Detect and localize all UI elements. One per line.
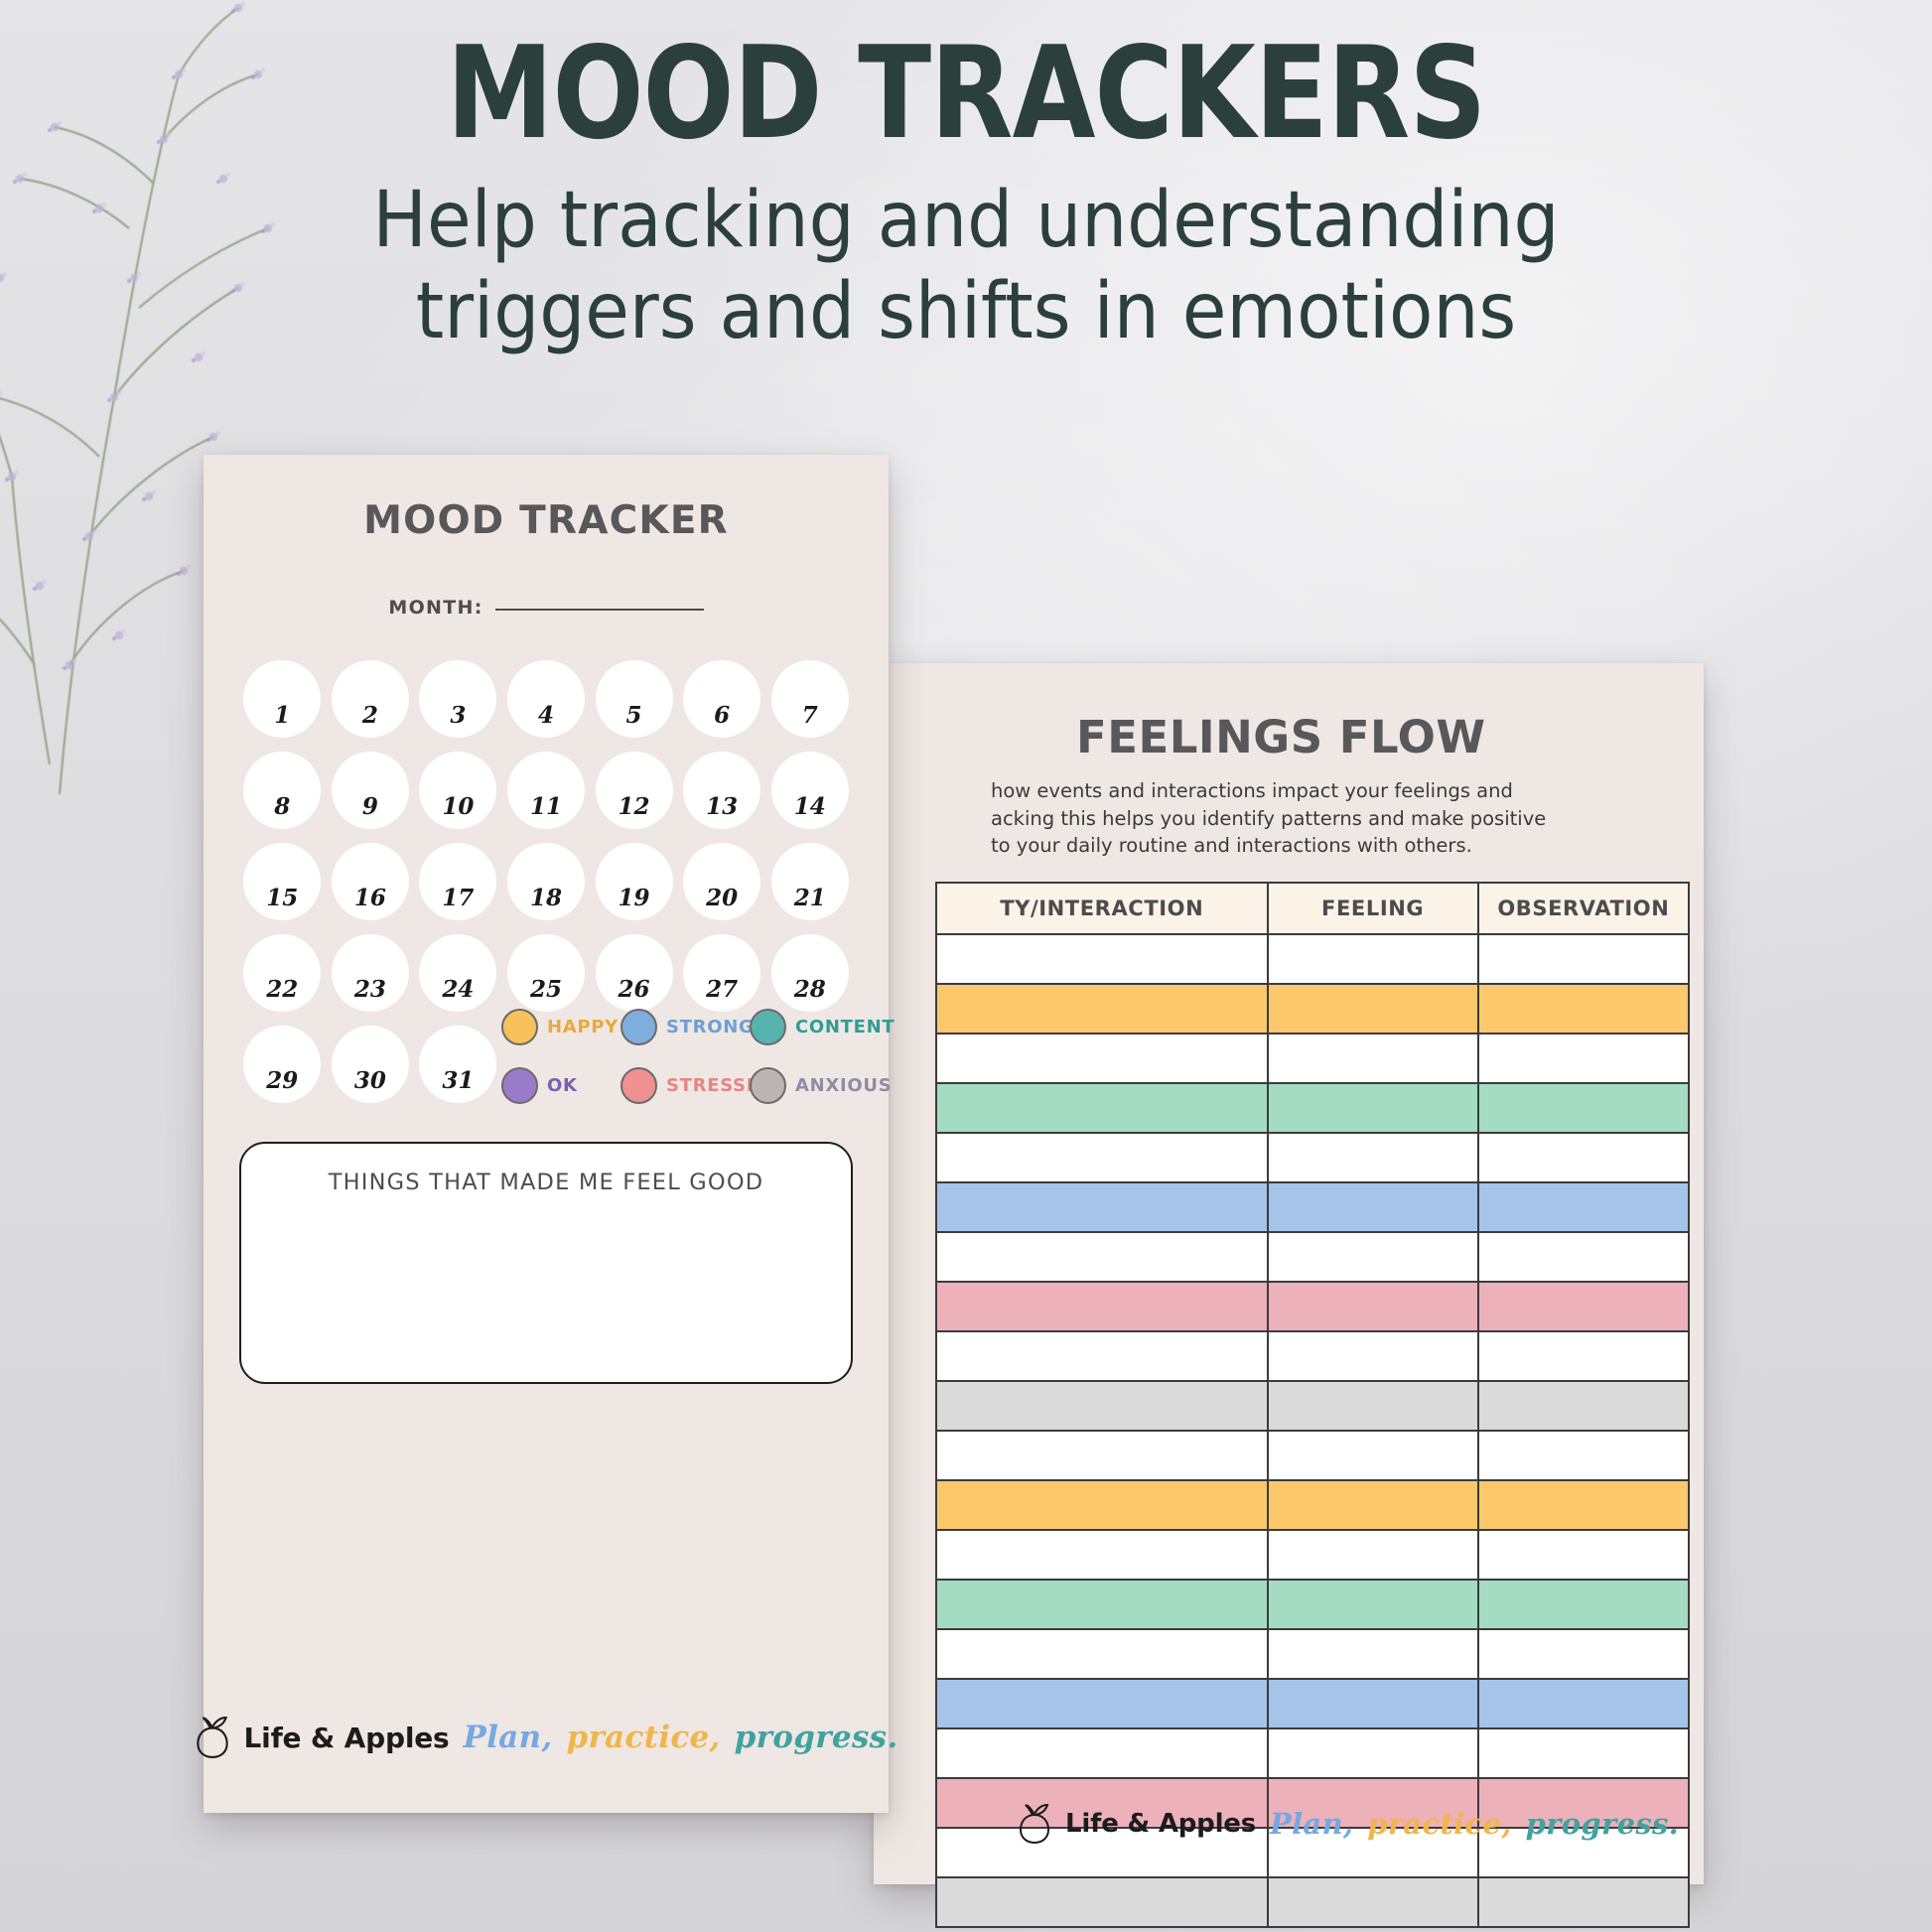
table-cell[interactable] bbox=[1478, 1133, 1689, 1182]
legend-item-content[interactable]: CONTENT bbox=[750, 1009, 869, 1045]
column-header-observation: OBSERVATION bbox=[1478, 883, 1689, 934]
day-circle[interactable]: 21 bbox=[771, 843, 849, 920]
table-cell[interactable] bbox=[936, 1232, 1268, 1282]
table-cell[interactable] bbox=[1268, 1728, 1478, 1778]
table-cell[interactable] bbox=[1268, 1331, 1478, 1381]
table-row[interactable] bbox=[936, 1034, 1689, 1083]
table-cell[interactable] bbox=[1478, 1530, 1689, 1580]
feelings-flow-card: FEELINGS FLOW how events and interaction… bbox=[874, 663, 1704, 1884]
table-row[interactable] bbox=[936, 1232, 1689, 1282]
brand-lockup: Life & Apples Plan, practice, progress. bbox=[1018, 1803, 1679, 1845]
table-row[interactable] bbox=[936, 1728, 1689, 1778]
table-row[interactable] bbox=[936, 1431, 1689, 1480]
table-row[interactable] bbox=[936, 1679, 1689, 1728]
brand-tag-progress: progress. bbox=[1526, 1807, 1679, 1841]
table-cell[interactable] bbox=[936, 1034, 1268, 1083]
legend-color-dot bbox=[621, 1067, 657, 1104]
day-number: 14 bbox=[794, 793, 826, 820]
day-circle[interactable]: 31 bbox=[419, 1026, 496, 1103]
feelings-flow-description-line-3: to your daily routine and interactions w… bbox=[991, 832, 1606, 860]
legend-label: CONTENT bbox=[795, 1017, 895, 1037]
feelings-flow-title: FEELINGS FLOW bbox=[1076, 711, 1648, 763]
day-circle[interactable]: 3 bbox=[419, 660, 496, 738]
day-circle[interactable]: 19 bbox=[596, 843, 673, 920]
table-cell[interactable] bbox=[1268, 1381, 1478, 1431]
table-cell[interactable] bbox=[936, 1083, 1268, 1133]
day-number: 8 bbox=[274, 793, 290, 820]
legend-item-anxious[interactable]: ANXIOUS bbox=[750, 1067, 869, 1104]
day-circle[interactable]: 5 bbox=[596, 660, 673, 738]
day-circle[interactable]: 2 bbox=[332, 660, 409, 738]
table-cell[interactable] bbox=[936, 1431, 1268, 1480]
table-row[interactable] bbox=[936, 934, 1689, 984]
table-row[interactable] bbox=[936, 1083, 1689, 1133]
day-circle[interactable]: 6 bbox=[683, 660, 760, 738]
table-cell[interactable] bbox=[936, 1728, 1268, 1778]
table-cell[interactable] bbox=[1268, 1282, 1478, 1331]
day-circle[interactable]: 7 bbox=[771, 660, 849, 738]
table-row[interactable] bbox=[936, 1182, 1689, 1232]
notes-box[interactable]: THINGS THAT MADE ME FEEL GOOD bbox=[239, 1142, 853, 1384]
day-circle[interactable]: 8 bbox=[243, 752, 321, 829]
page-subtitle-line-2: triggers and shifts in emotions bbox=[68, 266, 1864, 357]
day-circle[interactable]: 14 bbox=[771, 752, 849, 829]
table-cell[interactable] bbox=[1268, 1679, 1478, 1728]
table-cell[interactable] bbox=[1478, 1034, 1689, 1083]
day-number: 31 bbox=[442, 1067, 474, 1094]
day-circle[interactable]: 29 bbox=[243, 1026, 321, 1103]
table-cell[interactable] bbox=[1478, 984, 1689, 1034]
table-cell[interactable] bbox=[936, 1530, 1268, 1580]
legend-color-dot bbox=[501, 1009, 538, 1045]
table-cell[interactable] bbox=[936, 1480, 1268, 1530]
day-number: 26 bbox=[619, 976, 650, 1003]
day-number: 5 bbox=[626, 702, 642, 729]
feelings-flow-table-body[interactable] bbox=[936, 934, 1689, 1927]
day-number: 12 bbox=[619, 793, 650, 820]
table-cell[interactable] bbox=[1268, 1480, 1478, 1530]
mood-tracker-card: MOOD TRACKER MONTH: 12345678910111213141… bbox=[204, 455, 889, 1813]
brand-name: Life & Apples bbox=[1065, 1809, 1256, 1839]
table-cell[interactable] bbox=[936, 1629, 1268, 1679]
day-number: 3 bbox=[450, 702, 466, 729]
feelings-flow-description: how events and interactions impact your … bbox=[991, 777, 1606, 860]
table-row[interactable] bbox=[936, 1133, 1689, 1182]
day-circle[interactable]: 26 bbox=[596, 934, 673, 1012]
day-number: 16 bbox=[354, 885, 386, 911]
day-circle[interactable]: 10 bbox=[419, 752, 496, 829]
table-cell[interactable] bbox=[1268, 1232, 1478, 1282]
day-number: 15 bbox=[266, 885, 298, 911]
day-number: 9 bbox=[362, 793, 378, 820]
day-number: 19 bbox=[619, 885, 650, 911]
table-cell[interactable] bbox=[1478, 1083, 1689, 1133]
day-circle[interactable]: 28 bbox=[771, 934, 849, 1012]
table-row[interactable] bbox=[936, 1580, 1689, 1629]
legend-color-dot bbox=[621, 1009, 657, 1045]
page-subtitle: Help tracking and understanding triggers… bbox=[68, 175, 1864, 357]
day-number: 20 bbox=[706, 885, 738, 911]
day-number: 13 bbox=[706, 793, 738, 820]
day-number: 11 bbox=[530, 793, 562, 820]
table-cell[interactable] bbox=[1478, 1182, 1689, 1232]
table-row[interactable] bbox=[936, 1331, 1689, 1381]
table-cell[interactable] bbox=[1268, 1083, 1478, 1133]
table-cell[interactable] bbox=[1268, 1629, 1478, 1679]
brand-tag-plan: Plan, bbox=[1270, 1807, 1353, 1841]
table-cell[interactable] bbox=[1478, 1232, 1689, 1282]
legend-color-dot bbox=[750, 1009, 786, 1045]
table-row[interactable] bbox=[936, 1877, 1689, 1927]
day-circle[interactable]: 24 bbox=[419, 934, 496, 1012]
legend-label: HAPPY bbox=[547, 1017, 619, 1037]
day-number: 29 bbox=[266, 1067, 298, 1094]
legend-label: ANXIOUS bbox=[795, 1075, 892, 1096]
page-subtitle-line-1: Help tracking and understanding bbox=[68, 175, 1864, 266]
day-circle[interactable]: 1 bbox=[243, 660, 321, 738]
table-cell[interactable] bbox=[1478, 1480, 1689, 1530]
day-number: 28 bbox=[794, 976, 826, 1003]
table-row[interactable] bbox=[936, 1530, 1689, 1580]
page-title: MOOD TRACKERS bbox=[58, 28, 1873, 161]
table-cell[interactable] bbox=[1478, 1728, 1689, 1778]
legend-item-stressed[interactable]: STRESSED bbox=[621, 1067, 750, 1104]
table-cell[interactable] bbox=[1478, 1431, 1689, 1480]
day-circle[interactable]: 12 bbox=[596, 752, 673, 829]
table-cell[interactable] bbox=[1268, 1580, 1478, 1629]
feelings-flow-footer-brand: Life & Apples Plan, practice, progress. bbox=[874, 1803, 1704, 1845]
day-number: 7 bbox=[802, 702, 818, 729]
table-cell[interactable] bbox=[1268, 1133, 1478, 1182]
table-cell[interactable] bbox=[936, 934, 1268, 984]
brand-tag-practice: practice, bbox=[1367, 1807, 1511, 1841]
table-cell[interactable] bbox=[936, 1182, 1268, 1232]
legend-color-dot bbox=[501, 1067, 538, 1104]
day-number: 21 bbox=[794, 885, 826, 911]
day-number: 18 bbox=[530, 885, 562, 911]
table-cell[interactable] bbox=[936, 1331, 1268, 1381]
mood-tracker-title: MOOD TRACKER bbox=[204, 498, 889, 543]
legend-item-ok[interactable]: OK bbox=[501, 1067, 621, 1104]
month-label: MONTH: bbox=[388, 597, 483, 619]
brand-tag-practice: practice, bbox=[566, 1720, 720, 1755]
feelings-flow-content: FEELINGS FLOW how events and interaction… bbox=[874, 663, 1704, 1884]
notes-box-title: THINGS THAT MADE ME FEEL GOOD bbox=[241, 1170, 851, 1195]
day-number: 22 bbox=[266, 976, 298, 1003]
brand-tag-progress: progress. bbox=[735, 1720, 898, 1755]
table-cell[interactable] bbox=[1268, 1877, 1478, 1927]
day-circle[interactable]: 15 bbox=[243, 843, 321, 920]
table-cell[interactable] bbox=[1478, 1282, 1689, 1331]
table-cell[interactable] bbox=[1268, 1034, 1478, 1083]
mood-legend: HAPPYSTRONGCONTENTOKSTRESSEDANXIOUS bbox=[501, 1009, 869, 1104]
page-header: MOOD TRACKERS Help tracking and understa… bbox=[0, 28, 1932, 357]
feelings-flow-description-line-2: acking this helps you identify patterns … bbox=[991, 805, 1606, 833]
day-number: 4 bbox=[538, 702, 554, 729]
feelings-flow-table[interactable]: TY/INTERACTION FEELING OBSERVATION bbox=[935, 882, 1690, 1928]
table-cell[interactable] bbox=[936, 984, 1268, 1034]
table-cell[interactable] bbox=[1268, 984, 1478, 1034]
month-field-row: MONTH: bbox=[204, 597, 889, 619]
day-circle[interactable]: 16 bbox=[332, 843, 409, 920]
day-circle[interactable]: 18 bbox=[507, 843, 585, 920]
table-cell[interactable] bbox=[936, 1580, 1268, 1629]
table-cell[interactable] bbox=[936, 1133, 1268, 1182]
table-cell[interactable] bbox=[1478, 1381, 1689, 1431]
table-cell[interactable] bbox=[936, 1282, 1268, 1331]
day-number: 6 bbox=[714, 702, 730, 729]
legend-item-happy[interactable]: HAPPY bbox=[501, 1009, 621, 1045]
day-circle[interactable]: 4 bbox=[507, 660, 585, 738]
table-row[interactable] bbox=[936, 1480, 1689, 1530]
table-row[interactable] bbox=[936, 984, 1689, 1034]
column-header-activity-interaction: TY/INTERACTION bbox=[936, 883, 1268, 934]
legend-label: OK bbox=[547, 1075, 578, 1096]
day-circle[interactable]: 27 bbox=[683, 934, 760, 1012]
month-input-line[interactable] bbox=[495, 609, 704, 611]
brand-lockup: Life & Apples Plan, practice, progress. bbox=[195, 1716, 898, 1759]
feelings-flow-description-line-1: how events and interactions impact your … bbox=[991, 777, 1606, 805]
table-header-row: TY/INTERACTION FEELING OBSERVATION bbox=[936, 883, 1689, 934]
table-cell[interactable] bbox=[1268, 1431, 1478, 1480]
day-number: 1 bbox=[274, 702, 290, 729]
day-number: 10 bbox=[442, 793, 474, 820]
table-cell[interactable] bbox=[1268, 934, 1478, 984]
table-cell[interactable] bbox=[936, 1381, 1268, 1431]
table-row[interactable] bbox=[936, 1282, 1689, 1331]
apple-logo-icon bbox=[1018, 1803, 1051, 1845]
mood-tracker-footer-brand: Life & Apples Plan, practice, progress. bbox=[204, 1716, 889, 1759]
legend-label: STRONG bbox=[666, 1017, 754, 1037]
table-cell[interactable] bbox=[1478, 1877, 1689, 1927]
day-number: 30 bbox=[354, 1067, 386, 1094]
table-cell[interactable] bbox=[1268, 1182, 1478, 1232]
day-circle[interactable]: 17 bbox=[419, 843, 496, 920]
day-number: 23 bbox=[354, 976, 386, 1003]
apple-logo-icon bbox=[195, 1716, 230, 1759]
day-circle[interactable]: 23 bbox=[332, 934, 409, 1012]
day-circle[interactable]: 9 bbox=[332, 752, 409, 829]
table-cell[interactable] bbox=[936, 1877, 1268, 1927]
day-number: 17 bbox=[442, 885, 474, 911]
table-row[interactable] bbox=[936, 1629, 1689, 1679]
table-cell[interactable] bbox=[1478, 1580, 1689, 1629]
table-cell[interactable] bbox=[1478, 934, 1689, 984]
day-number: 24 bbox=[442, 976, 474, 1003]
legend-item-strong[interactable]: STRONG bbox=[621, 1009, 750, 1045]
day-circle[interactable]: 22 bbox=[243, 934, 321, 1012]
day-circle[interactable]: 13 bbox=[683, 752, 760, 829]
day-number: 25 bbox=[530, 976, 562, 1003]
day-number: 2 bbox=[362, 702, 378, 729]
table-cell[interactable] bbox=[1268, 1530, 1478, 1580]
table-cell[interactable] bbox=[936, 1679, 1268, 1728]
table-cell[interactable] bbox=[1478, 1679, 1689, 1728]
table-cell[interactable] bbox=[1478, 1331, 1689, 1381]
day-circle[interactable]: 30 bbox=[332, 1026, 409, 1103]
brand-name: Life & Apples bbox=[244, 1722, 450, 1754]
table-row[interactable] bbox=[936, 1381, 1689, 1431]
column-header-feeling: FEELING bbox=[1268, 883, 1478, 934]
day-circle[interactable]: 20 bbox=[683, 843, 760, 920]
table-cell[interactable] bbox=[1478, 1629, 1689, 1679]
brand-tag-plan: Plan, bbox=[463, 1720, 552, 1755]
day-circle[interactable]: 11 bbox=[507, 752, 585, 829]
day-circle[interactable]: 25 bbox=[507, 934, 585, 1012]
day-number: 27 bbox=[706, 976, 738, 1003]
legend-color-dot bbox=[750, 1067, 786, 1104]
